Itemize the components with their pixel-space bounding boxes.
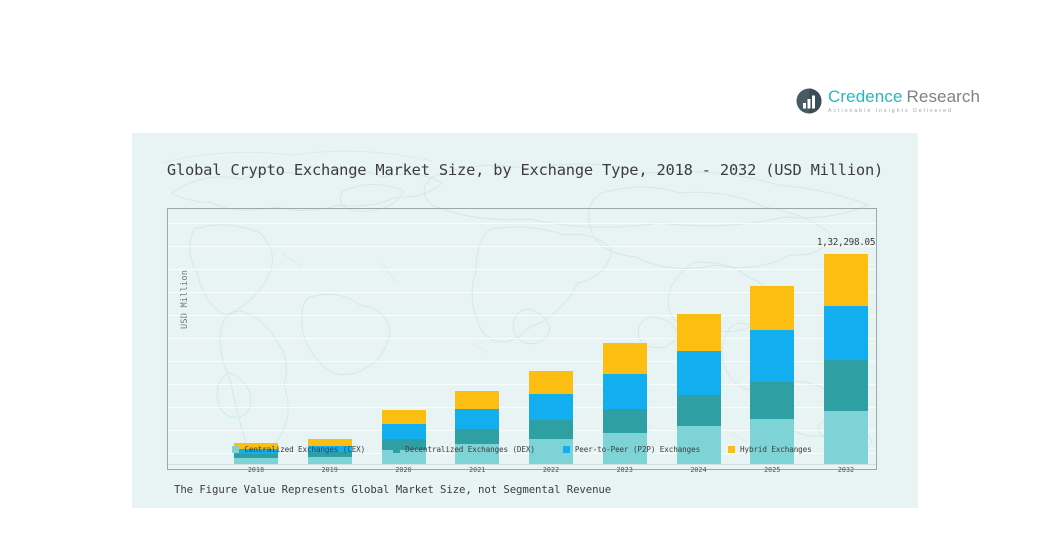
legend-swatch-icon [728, 446, 735, 453]
legend-swatch-icon [563, 446, 570, 453]
x-tick-2023: 2023 [603, 466, 647, 474]
bar-segment[interactable] [750, 330, 794, 382]
x-tick-2021: 2021 [455, 466, 499, 474]
bar-segment[interactable] [603, 374, 647, 409]
bar-column-2032[interactable]: 1,32,298.05 [824, 254, 868, 464]
legend-label: Decentralized Exchanges (DEX) [405, 445, 535, 454]
bar-chart-circle-icon [796, 88, 822, 114]
legend-label: Centralized Exchanges (CEX) [244, 445, 365, 454]
x-tick-2020: 2020 [382, 466, 426, 474]
bar-segment[interactable] [677, 351, 721, 395]
bar-series-group: 1,32,298.05 [234, 234, 868, 464]
bar-segment[interactable] [529, 420, 573, 439]
legend-label: Hybrid Exchanges [740, 445, 812, 454]
x-tick-2025: 2025 [750, 466, 794, 474]
screenshot-root: CredenceResearch Actionable Insights Del… [0, 0, 1062, 547]
x-tick-2032: 2032 [824, 466, 868, 474]
bar-segment[interactable] [529, 394, 573, 420]
gridline [168, 223, 876, 224]
bar-segment[interactable] [382, 410, 426, 424]
bar-segment[interactable] [455, 429, 499, 444]
bar-segment[interactable] [824, 411, 868, 464]
legend-item-0[interactable]: Centralized Exchanges (CEX) [232, 445, 365, 454]
legend-item-1[interactable]: Decentralized Exchanges (DEX) [393, 445, 535, 454]
legend-swatch-icon [393, 446, 400, 453]
bar-segment[interactable] [603, 343, 647, 373]
bar-segment[interactable] [308, 457, 352, 464]
bar-value-label: 1,32,298.05 [817, 237, 875, 248]
bar-segment[interactable] [824, 360, 868, 411]
bar-segment[interactable] [750, 382, 794, 419]
bar-segment[interactable] [455, 391, 499, 409]
chart-footnote: The Figure Value Represents Global Marke… [174, 483, 611, 496]
chart-legend: Centralized Exchanges (CEX)Decentralized… [168, 445, 876, 454]
x-tick-2024: 2024 [677, 466, 721, 474]
legend-item-3[interactable]: Hybrid Exchanges [728, 445, 812, 454]
chart-figure-panel: Global Crypto Exchange Market Size, by E… [132, 133, 918, 508]
logo-brand-secondary: Research [907, 87, 981, 106]
logo-text-block: CredenceResearch Actionable Insights Del… [828, 88, 980, 115]
plot-area: 1,32,298.05 [168, 209, 876, 469]
bar-segment[interactable] [455, 409, 499, 429]
bar-column-2024[interactable] [677, 314, 721, 464]
legend-item-2[interactable]: Peer-to-Peer (P2P) Exchanges [563, 445, 700, 454]
chart-title: Global Crypto Exchange Market Size, by E… [132, 161, 918, 179]
logo-tagline: Actionable Insights Delivered [828, 107, 980, 115]
bar-segment[interactable] [677, 395, 721, 426]
legend-swatch-icon [232, 446, 239, 453]
bar-segment[interactable] [529, 371, 573, 394]
logo-wordmark: CredenceResearch [828, 88, 980, 106]
x-tick-2019: 2019 [308, 466, 352, 474]
bar-segment[interactable] [824, 254, 868, 306]
bar-column-2025[interactable] [750, 286, 794, 464]
bar-segment[interactable] [750, 419, 794, 464]
credence-research-logo: CredenceResearch Actionable Insights Del… [796, 84, 964, 118]
x-axis-tick-labels: 201820192020202120222023202420252032 [234, 466, 868, 474]
x-tick-2018: 2018 [234, 466, 278, 474]
bar-segment[interactable] [750, 286, 794, 330]
bar-segment[interactable] [382, 424, 426, 439]
logo-brand-primary: Credence [828, 87, 903, 106]
legend-label: Peer-to-Peer (P2P) Exchanges [575, 445, 700, 454]
x-tick-2022: 2022 [529, 466, 573, 474]
bar-segment[interactable] [677, 314, 721, 351]
bar-column-2020[interactable] [382, 410, 426, 464]
bar-segment[interactable] [603, 409, 647, 434]
bar-segment[interactable] [824, 306, 868, 360]
x-axis-line [168, 464, 876, 465]
